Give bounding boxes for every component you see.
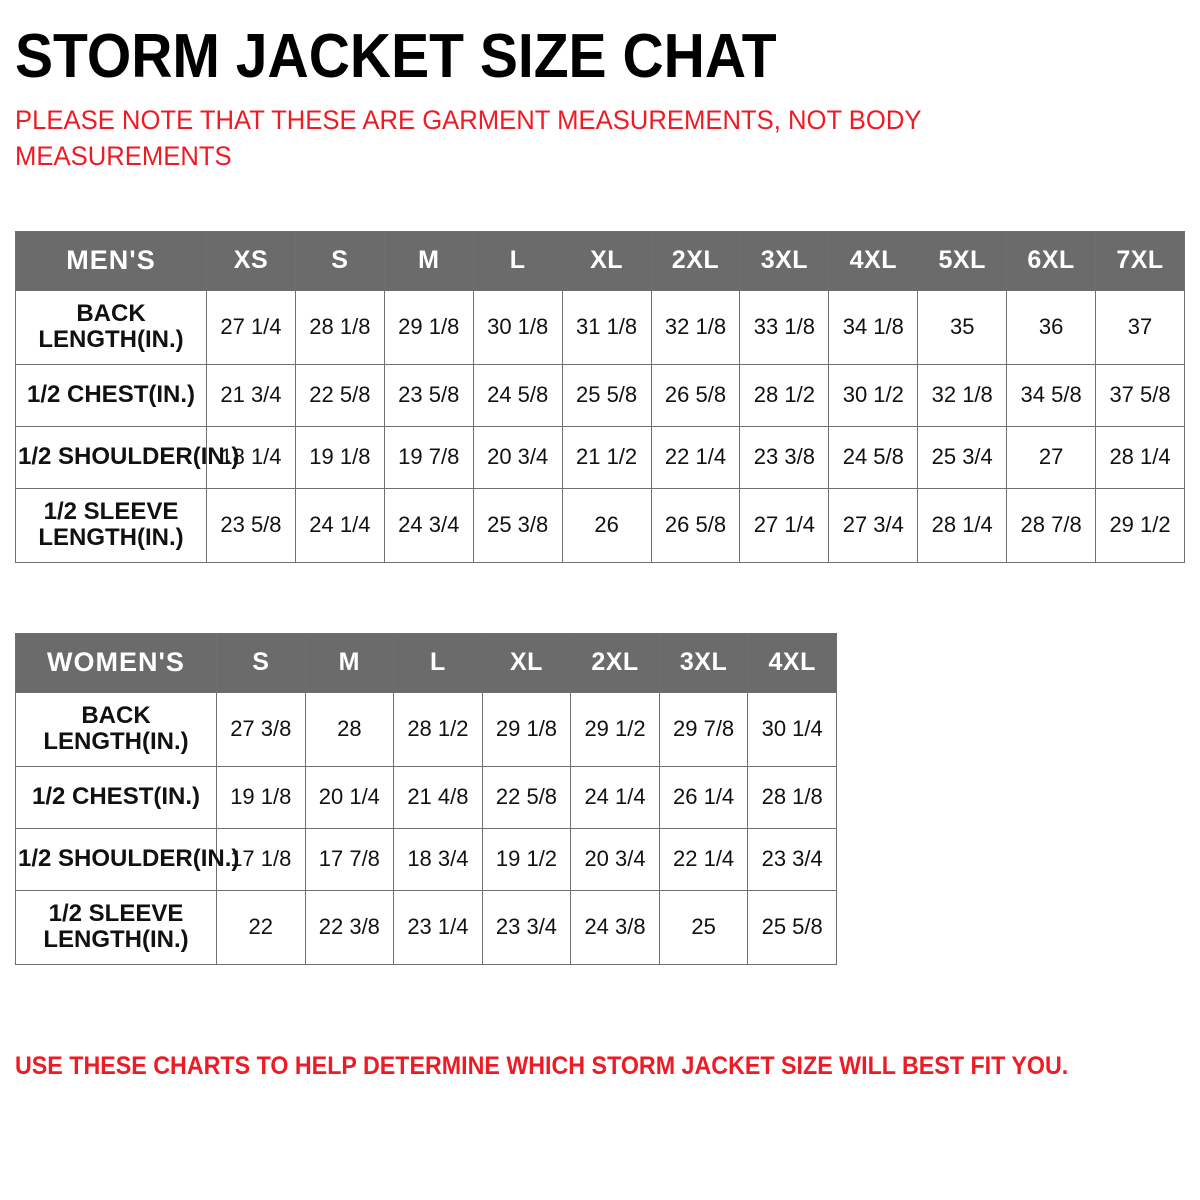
cell-value: 29 7/8 <box>659 692 748 766</box>
cell-value: 32 1/8 <box>918 364 1007 426</box>
cell-value: 21 4/8 <box>394 766 483 828</box>
table-row: 1/2 CHEST(IN.) 19 1/8 20 1/4 21 4/8 22 5… <box>16 766 837 828</box>
cell-value: 18 3/4 <box>394 828 483 890</box>
mens-col-4xl: 4XL <box>829 231 918 290</box>
best-fit-note: USE THESE CHARTS TO HELP DETERMINE WHICH… <box>15 1052 1068 1081</box>
size-chart-page: STORM JACKET SIZE CHAT PLEASE NOTE THAT … <box>0 0 1200 1200</box>
cell-value: 20 1/4 <box>305 766 394 828</box>
cell-value: 23 5/8 <box>207 488 296 562</box>
cell-value: 21 1/2 <box>562 426 651 488</box>
womens-row-label-back-length: BACK LENGTH(IN.) <box>16 692 217 766</box>
cell-value: 28 1/2 <box>740 364 829 426</box>
womens-row-label-half-shoulder: 1/2 SHOULDER(IN.) <box>16 828 217 890</box>
cell-value: 20 3/4 <box>571 828 660 890</box>
label-line-1: 1/2 SHOULDER(IN.) <box>18 444 239 471</box>
cell-value: 28 1/8 <box>748 766 837 828</box>
cell-value: 27 1/4 <box>207 290 296 364</box>
cell-value: 33 1/8 <box>740 290 829 364</box>
cell-value: 28 <box>305 692 394 766</box>
cell-value: 25 3/4 <box>918 426 1007 488</box>
mens-col-3xl: 3XL <box>740 231 829 290</box>
table-row: BACK LENGTH(IN.) 27 1/4 28 1/8 29 1/8 30… <box>16 290 1185 364</box>
cell-value: 26 5/8 <box>651 488 740 562</box>
cell-value: 25 5/8 <box>562 364 651 426</box>
label-line-1: 1/2 CHEST(IN.) <box>32 784 200 811</box>
cell-value: 22 5/8 <box>482 766 571 828</box>
label-line-2: LENGTH(IN.) <box>43 927 188 954</box>
cell-value: 21 3/4 <box>207 364 296 426</box>
label-line-2: LENGTH(IN.) <box>38 525 183 552</box>
label-line-1: BACK <box>81 703 150 730</box>
cell-value: 34 5/8 <box>1007 364 1096 426</box>
mens-header-label: MEN'S <box>16 231 207 290</box>
mens-col-5xl: 5XL <box>918 231 1007 290</box>
cell-value: 27 3/4 <box>829 488 918 562</box>
womens-table-header: WOMEN'S S M L XL 2XL 3XL 4XL <box>16 633 837 692</box>
mens-row-label-half-shoulder: 1/2 SHOULDER(IN.) <box>16 426 207 488</box>
cell-value: 24 1/4 <box>295 488 384 562</box>
cell-value: 22 <box>217 890 306 964</box>
label-line-1: 1/2 CHEST(IN.) <box>27 382 195 409</box>
label-line-2: LENGTH(IN.) <box>38 327 183 354</box>
womens-col-s: S <box>217 633 306 692</box>
cell-value: 28 1/4 <box>918 488 1007 562</box>
womens-row-label-half-chest: 1/2 CHEST(IN.) <box>16 766 217 828</box>
womens-col-xl: XL <box>482 633 571 692</box>
cell-value: 29 1/8 <box>482 692 571 766</box>
cell-value: 23 1/4 <box>394 890 483 964</box>
cell-value: 20 3/4 <box>473 426 562 488</box>
cell-value: 23 3/4 <box>748 828 837 890</box>
cell-value: 30 1/4 <box>748 692 837 766</box>
cell-value: 22 5/8 <box>295 364 384 426</box>
mens-col-l: L <box>473 231 562 290</box>
womens-header-row: WOMEN'S S M L XL 2XL 3XL 4XL <box>16 633 837 692</box>
cell-value: 19 1/8 <box>295 426 384 488</box>
label-line-2: LENGTH(IN.) <box>43 729 188 756</box>
cell-value: 34 1/8 <box>829 290 918 364</box>
cell-value: 28 1/4 <box>1096 426 1185 488</box>
mens-col-6xl: 6XL <box>1007 231 1096 290</box>
cell-value: 30 1/8 <box>473 290 562 364</box>
table-row: 1/2 SLEEVE LENGTH(IN.) 23 5/8 24 1/4 24 … <box>16 488 1185 562</box>
womens-col-4xl: 4XL <box>748 633 837 692</box>
mens-col-s: S <box>295 231 384 290</box>
mens-table-header: MEN'S XS S M L XL 2XL 3XL 4XL 5XL 6XL 7X… <box>16 231 1185 290</box>
cell-value: 27 3/8 <box>217 692 306 766</box>
cell-value: 29 1/8 <box>384 290 473 364</box>
cell-value: 24 3/8 <box>571 890 660 964</box>
cell-value: 30 1/2 <box>829 364 918 426</box>
womens-col-2xl: 2XL <box>571 633 660 692</box>
cell-value: 29 1/2 <box>1096 488 1185 562</box>
cell-value: 32 1/8 <box>651 290 740 364</box>
womens-table-body: BACK LENGTH(IN.) 27 3/8 28 28 1/2 29 1/8… <box>16 692 837 964</box>
mens-table-body: BACK LENGTH(IN.) 27 1/4 28 1/8 29 1/8 30… <box>16 290 1185 562</box>
cell-value: 24 3/4 <box>384 488 473 562</box>
cell-value: 25 <box>659 890 748 964</box>
cell-value: 37 5/8 <box>1096 364 1185 426</box>
label-line-1: BACK <box>76 301 145 328</box>
cell-value: 28 1/8 <box>295 290 384 364</box>
mens-col-2xl: 2XL <box>651 231 740 290</box>
womens-col-l: L <box>394 633 483 692</box>
cell-value: 26 5/8 <box>651 364 740 426</box>
womens-header-label: WOMEN'S <box>16 633 217 692</box>
mens-row-label-back-length: BACK LENGTH(IN.) <box>16 290 207 364</box>
cell-value: 26 1/4 <box>659 766 748 828</box>
table-row: 1/2 SHOULDER(IN.) 17 1/8 17 7/8 18 3/4 1… <box>16 828 837 890</box>
garment-measurement-note: PLEASE NOTE THAT THESE ARE GARMENT MEASU… <box>15 88 965 175</box>
cell-value: 36 <box>1007 290 1096 364</box>
page-title: STORM JACKET SIZE CHAT <box>15 0 1091 88</box>
mens-col-xs: XS <box>207 231 296 290</box>
table-row: BACK LENGTH(IN.) 27 3/8 28 28 1/2 29 1/8… <box>16 692 837 766</box>
cell-value: 28 1/2 <box>394 692 483 766</box>
mens-row-label-half-sleeve-length: 1/2 SLEEVE LENGTH(IN.) <box>16 488 207 562</box>
cell-value: 22 1/4 <box>659 828 748 890</box>
cell-value: 25 3/8 <box>473 488 562 562</box>
mens-col-xl: XL <box>562 231 651 290</box>
cell-value: 37 <box>1096 290 1185 364</box>
cell-value: 27 <box>1007 426 1096 488</box>
cell-value: 24 5/8 <box>473 364 562 426</box>
cell-value: 19 1/2 <box>482 828 571 890</box>
mens-col-m: M <box>384 231 473 290</box>
label-line-1: 1/2 SLEEVE <box>44 499 179 526</box>
table-row: 1/2 SHOULDER(IN.) 18 1/4 19 1/8 19 7/8 2… <box>16 426 1185 488</box>
cell-value: 27 1/4 <box>740 488 829 562</box>
cell-value: 17 1/8 <box>217 828 306 890</box>
mens-col-7xl: 7XL <box>1096 231 1185 290</box>
cell-value: 29 1/2 <box>571 692 660 766</box>
table-row: 1/2 SLEEVE LENGTH(IN.) 22 22 3/8 23 1/4 … <box>16 890 837 964</box>
cell-value: 28 7/8 <box>1007 488 1096 562</box>
cell-value: 23 3/4 <box>482 890 571 964</box>
label-line-1: 1/2 SLEEVE <box>49 901 184 928</box>
cell-value: 31 1/8 <box>562 290 651 364</box>
cell-value: 19 7/8 <box>384 426 473 488</box>
cell-value: 25 5/8 <box>748 890 837 964</box>
cell-value: 22 3/8 <box>305 890 394 964</box>
cell-value: 19 1/8 <box>217 766 306 828</box>
cell-value: 24 1/4 <box>571 766 660 828</box>
cell-value: 22 1/4 <box>651 426 740 488</box>
cell-value: 24 5/8 <box>829 426 918 488</box>
cell-value: 23 3/8 <box>740 426 829 488</box>
label-line-1: 1/2 SHOULDER(IN.) <box>18 846 239 873</box>
womens-col-m: M <box>305 633 394 692</box>
mens-row-label-half-chest: 1/2 CHEST(IN.) <box>16 364 207 426</box>
womens-row-label-half-sleeve-length: 1/2 SLEEVE LENGTH(IN.) <box>16 890 217 964</box>
cell-value: 23 5/8 <box>384 364 473 426</box>
womens-size-table: WOMEN'S S M L XL 2XL 3XL 4XL BACK LENGTH… <box>15 633 837 965</box>
cell-value: 18 1/4 <box>207 426 296 488</box>
cell-value: 26 <box>562 488 651 562</box>
cell-value: 35 <box>918 290 1007 364</box>
mens-size-table: MEN'S XS S M L XL 2XL 3XL 4XL 5XL 6XL 7X… <box>15 231 1185 563</box>
womens-col-3xl: 3XL <box>659 633 748 692</box>
cell-value: 17 7/8 <box>305 828 394 890</box>
mens-header-row: MEN'S XS S M L XL 2XL 3XL 4XL 5XL 6XL 7X… <box>16 231 1185 290</box>
table-row: 1/2 CHEST(IN.) 21 3/4 22 5/8 23 5/8 24 5… <box>16 364 1185 426</box>
